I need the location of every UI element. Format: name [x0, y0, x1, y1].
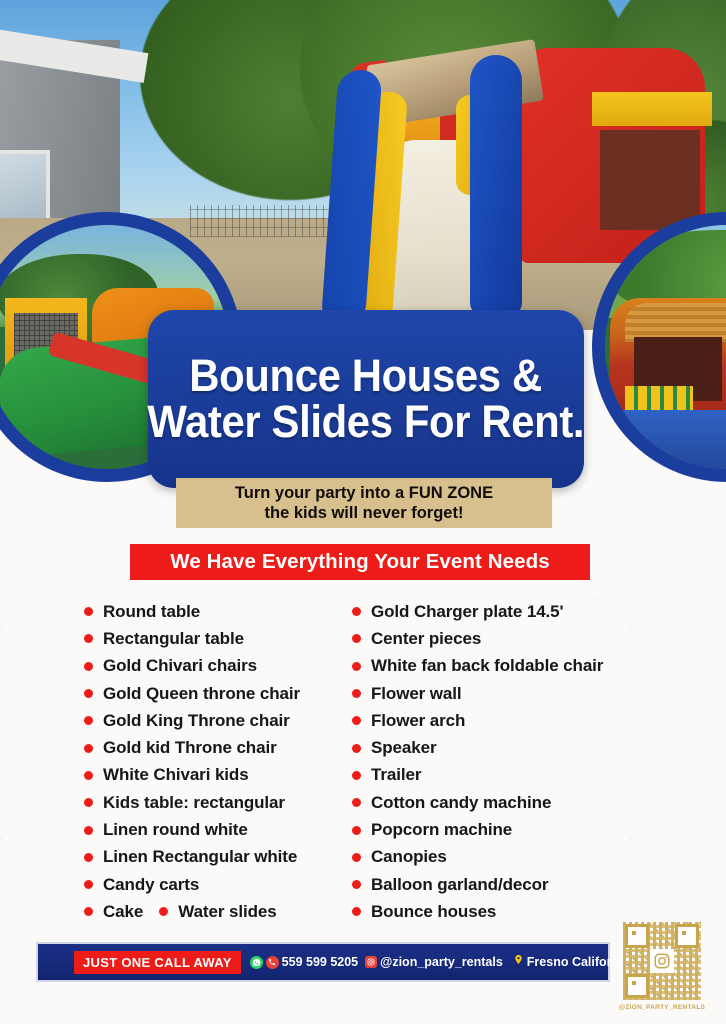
list-item-label: Cotton candy machine: [371, 793, 551, 813]
list-item: Gold King Throne chair: [84, 707, 354, 734]
list-item: Kids table: rectangular: [84, 789, 354, 816]
bullet-icon: [352, 716, 361, 725]
phone-icon[interactable]: [266, 956, 279, 969]
bullet-icon: [84, 716, 93, 725]
footer-contact-bar: JUST ONE CALL AWAY 559 599 5205 @zion_pa…: [36, 942, 610, 982]
tagline-line-2: the kids will never forget!: [265, 503, 464, 523]
list-item: CakeWater slides: [84, 898, 354, 925]
location-pin-icon: [513, 953, 524, 971]
bullet-icon: [84, 798, 93, 807]
headline-line-1: Bounce Houses &: [190, 353, 543, 399]
list-item-label: Linen Rectangular white: [103, 847, 297, 867]
bullet-icon: [84, 689, 93, 698]
list-item-label: White fan back foldable chair: [371, 656, 603, 676]
list-item-label: Kids table: rectangular: [103, 793, 285, 813]
list-item-label: Canopies: [371, 847, 447, 867]
list-item-label: Water slides: [178, 902, 276, 922]
list-item: Flower arch: [352, 707, 672, 734]
right-circle-photo: [592, 212, 726, 482]
qr-code[interactable]: [623, 922, 701, 1000]
list-item-label: Flower arch: [371, 711, 465, 731]
list-item-label: Gold Queen throne chair: [103, 684, 300, 704]
bullet-icon: [84, 853, 93, 862]
instagram-icon[interactable]: [365, 956, 377, 968]
section-banner: We Have Everything Your Event Needs: [130, 544, 590, 580]
qr-finder-bottom-left: [625, 974, 649, 998]
list-item: Candy carts: [84, 871, 354, 898]
list-item-label: Bounce houses: [371, 902, 496, 922]
bullet-icon: [352, 771, 361, 780]
list-item-label: Gold King Throne chair: [103, 711, 290, 731]
list-item: Cotton candy machine: [352, 789, 672, 816]
list-item: Center pieces: [352, 625, 672, 652]
list-item-label: Popcorn machine: [371, 820, 512, 840]
qr-instagram-icon: [650, 949, 674, 973]
list-item-label: Linen round white: [103, 820, 248, 840]
bullet-icon: [352, 634, 361, 643]
bullet-icon: [352, 662, 361, 671]
bullet-icon: [352, 689, 361, 698]
call-away-badge: JUST ONE CALL AWAY: [74, 951, 241, 974]
list-item-label: Rectangular table: [103, 629, 244, 649]
list-item-label: Gold kid Throne chair: [103, 738, 277, 758]
bullet-icon: [352, 607, 361, 616]
list-item: White Chivari kids: [84, 762, 354, 789]
bullet-icon: [84, 634, 93, 643]
list-item: Linen Rectangular white: [84, 844, 354, 871]
tagline-line-1: Turn your party into a FUN ZONE: [235, 483, 493, 503]
services-right-column: Gold Charger plate 14.5'Center piecesWhi…: [352, 598, 672, 926]
bullet-icon: [352, 744, 361, 753]
bullet-icon: [84, 607, 93, 616]
list-item: Popcorn machine: [352, 816, 672, 843]
bullet-icon: [84, 826, 93, 835]
whatsapp-icon[interactable]: [250, 956, 263, 969]
bullet-icon: [84, 662, 93, 671]
list-item-label: Center pieces: [371, 629, 481, 649]
list-item-label: Round table: [103, 602, 200, 622]
list-item: Gold Charger plate 14.5': [352, 598, 672, 625]
bullet-icon: [352, 826, 361, 835]
list-item: Gold Queen throne chair: [84, 680, 354, 707]
inflatable-doorway: [600, 130, 700, 230]
list-item-label: Speaker: [371, 738, 436, 758]
list-item-label: Gold Charger plate 14.5': [371, 602, 563, 622]
list-item: Gold Chivari chairs: [84, 653, 354, 680]
list-item-label: Candy carts: [103, 875, 199, 895]
bullet-icon: [84, 771, 93, 780]
list-item-label: Trailer: [371, 765, 421, 785]
list-item: Round table: [84, 598, 354, 625]
list-item-label: Balloon garland/decor: [371, 875, 548, 895]
tagline-box: Turn your party into a FUN ZONE the kids…: [176, 478, 552, 528]
bullet-icon: [352, 907, 361, 916]
qr-finder-top-left: [625, 924, 649, 948]
headline-panel: Bounce Houses & Water Slides For Rent.: [148, 310, 584, 488]
list-item: Flower wall: [352, 680, 672, 707]
bullet-icon: [84, 907, 93, 916]
bullet-icon: [352, 853, 361, 862]
list-item: Trailer: [352, 762, 672, 789]
bullet-icon: [352, 798, 361, 807]
list-item: Canopies: [352, 844, 672, 871]
list-item-label: White Chivari kids: [103, 765, 249, 785]
qr-finder-top-right: [675, 924, 699, 948]
phone-number[interactable]: 559 599 5205: [282, 955, 358, 969]
right-circle-pool: [605, 410, 726, 469]
bullet-icon: [159, 907, 168, 916]
bullet-icon: [352, 880, 361, 889]
list-item: White fan back foldable chair: [352, 653, 672, 680]
flyer-page: Bounce Houses & Water Slides For Rent. T…: [0, 0, 726, 1024]
list-item-label: Flower wall: [371, 684, 462, 704]
list-item: Speaker: [352, 734, 672, 761]
list-item: Linen round white: [84, 816, 354, 843]
instagram-handle[interactable]: @zion_party_rentals: [380, 955, 503, 969]
headline-line-2: Water Slides For Rent.: [148, 399, 585, 445]
bullet-icon: [84, 880, 93, 889]
qr-code-block[interactable]: @ZION_PARTY_RENTALS: [614, 922, 710, 1011]
inflatable-yellow-band: [592, 92, 712, 126]
list-item: Gold kid Throne chair: [84, 734, 354, 761]
slide-blue-rail-right: [470, 55, 522, 315]
list-item-label: Cake: [103, 902, 143, 922]
list-item-label: Gold Chivari chairs: [103, 656, 257, 676]
list-item: Rectangular table: [84, 625, 354, 652]
services-left-column: Round tableRectangular tableGold Chivari…: [84, 598, 354, 926]
qr-caption: @ZION_PARTY_RENTALS: [614, 1004, 710, 1011]
bullet-icon: [84, 744, 93, 753]
list-item: Balloon garland/decor: [352, 871, 672, 898]
section-banner-text: We Have Everything Your Event Needs: [170, 550, 549, 574]
